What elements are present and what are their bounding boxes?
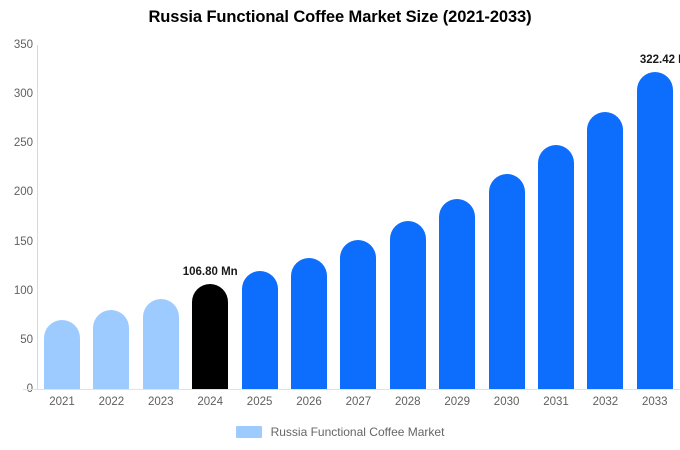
y-axis-tick-label: 350 — [3, 39, 33, 51]
legend-label-russia-functional-coffee-market: Russia Functional Coffee Market — [271, 425, 445, 439]
bar-group — [439, 45, 475, 389]
y-axis-tick-label: 100 — [3, 285, 33, 297]
bar-2027[interactable] — [340, 240, 376, 389]
x-axis-tick-label-2027: 2027 — [333, 396, 383, 408]
bar-value-label-2033: 322.42 Mn — [640, 54, 680, 66]
bar-2026[interactable] — [291, 258, 327, 389]
bar-2030[interactable] — [489, 174, 525, 389]
x-axis-tick-label-2032: 2032 — [580, 396, 630, 408]
bar-group: 106.80 Mn — [192, 45, 228, 389]
x-axis-line — [23, 389, 680, 390]
bar-2021[interactable] — [44, 320, 80, 389]
x-axis-tick-label-2025: 2025 — [235, 396, 285, 408]
bar-group — [242, 45, 278, 389]
chart-legend: Russia Functional Coffee Market — [0, 425, 680, 439]
bar-2025[interactable] — [242, 271, 278, 389]
bar-group — [489, 45, 525, 389]
legend-swatch-russia-functional-coffee-market — [236, 426, 262, 438]
y-axis: 050100150200250300350 — [0, 0, 33, 450]
plot-area: 106.80 Mn322.42 Mn — [37, 45, 680, 389]
y-axis-tick-label: 150 — [3, 236, 33, 248]
x-axis-tick-label-2022: 2022 — [86, 396, 136, 408]
x-axis-tick-label-2021: 2021 — [37, 396, 87, 408]
y-axis-tick-label: 250 — [3, 137, 33, 149]
x-axis-tick-label-2030: 2030 — [482, 396, 532, 408]
bar-2028[interactable] — [390, 221, 426, 389]
bar-2033[interactable] — [637, 72, 673, 389]
y-axis-tick-label: 50 — [3, 334, 33, 346]
bar-2023[interactable] — [143, 299, 179, 389]
y-axis-tick-label: 300 — [3, 88, 33, 100]
bar-group — [340, 45, 376, 389]
bar-group — [587, 45, 623, 389]
bar-group — [143, 45, 179, 389]
bar-group — [44, 45, 80, 389]
bar-group — [538, 45, 574, 389]
x-axis-tick-label-2028: 2028 — [383, 396, 433, 408]
bar-chart: Russia Functional Coffee Market Size (20… — [0, 0, 680, 450]
bar-group — [390, 45, 426, 389]
bar-group — [291, 45, 327, 389]
x-axis-tick-label-2031: 2031 — [531, 396, 581, 408]
x-axis-tick-label-2024: 2024 — [185, 396, 235, 408]
chart-title: Russia Functional Coffee Market Size (20… — [0, 8, 680, 27]
bar-2022[interactable] — [93, 310, 129, 389]
y-axis-tick-label: 200 — [3, 186, 33, 198]
bar-2031[interactable] — [538, 145, 574, 389]
bar-2032[interactable] — [587, 112, 623, 389]
bar-2024[interactable] — [192, 284, 228, 389]
bar-group — [93, 45, 129, 389]
x-axis-tick-label-2023: 2023 — [136, 396, 186, 408]
x-axis-tick-label-2029: 2029 — [432, 396, 482, 408]
x-axis-tick-label-2033: 2033 — [630, 396, 680, 408]
x-axis-tick-label-2026: 2026 — [284, 396, 334, 408]
bar-value-label-2024: 106.80 Mn — [183, 266, 238, 278]
bar-2029[interactable] — [439, 199, 475, 389]
bar-group: 322.42 Mn — [637, 45, 673, 389]
